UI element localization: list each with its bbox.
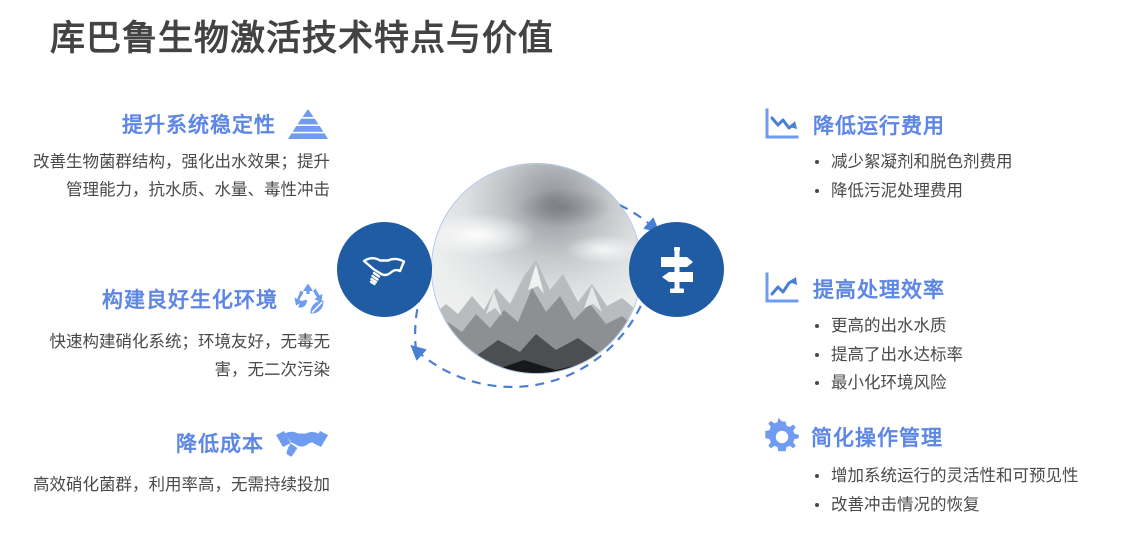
feature-title: 提升系统稳定性 xyxy=(122,109,276,139)
feature-bullet-list: 更高的出水水质 提高了出水达标率 最小化环境风险 xyxy=(763,312,1113,398)
list-item: 减少絮凝剂和脱色剂费用 xyxy=(815,148,1113,177)
pyramid-icon xyxy=(286,108,330,140)
mountain-photo xyxy=(432,164,641,373)
feature-header: 降低运行费用 xyxy=(763,108,1113,142)
handshake-icon xyxy=(274,423,330,463)
gear-icon xyxy=(763,418,801,456)
list-item: 更高的出水水质 xyxy=(815,312,1113,341)
feature-block-stability: 提升系统稳定性 改善生物菌群结构，强化出水效果；提升管理能力，抗水质、水量、毒性… xyxy=(30,108,330,203)
list-item: 最小化环境风险 xyxy=(815,369,1113,398)
feature-block-environment: 构建良好生化环境 快速构建硝化系统；环境友好，无毒无害，无二次污染 xyxy=(30,278,330,383)
recycle-leaf-icon xyxy=(288,278,330,320)
feature-title: 提高处理效率 xyxy=(813,274,945,304)
feature-header: 构建良好生化环境 xyxy=(30,278,330,320)
photo-mountain-layer xyxy=(432,164,641,373)
feature-title: 简化操作管理 xyxy=(811,422,943,452)
node-handshake xyxy=(337,222,432,317)
feature-header: 降低成本 xyxy=(30,423,330,463)
feature-header: 简化操作管理 xyxy=(763,418,1113,456)
feature-header: 提升系统稳定性 xyxy=(30,108,330,140)
handshake-icon xyxy=(360,252,410,288)
feature-body: 改善生物菌群结构，强化出水效果；提升管理能力，抗水质、水量、毒性冲击 xyxy=(30,148,330,203)
feature-body: 快速构建硝化系统；环境友好，无毒无害，无二次污染 xyxy=(30,328,330,383)
center-diagram xyxy=(333,104,753,556)
feature-block-operations: 简化操作管理 增加系统运行的灵活性和可预见性 改善冲击情况的恢复 xyxy=(763,418,1113,519)
feature-title: 降低成本 xyxy=(176,428,264,458)
feature-bullet-list: 增加系统运行的灵活性和可预见性 改善冲击情况的恢复 xyxy=(763,462,1113,519)
feature-title: 降低运行费用 xyxy=(813,110,945,140)
feature-bullet-list: 减少絮凝剂和脱色剂费用 降低污泥处理费用 xyxy=(763,148,1113,205)
feature-title: 构建良好生化环境 xyxy=(102,284,278,314)
chart-down-icon xyxy=(763,108,803,142)
feature-block-cost: 降低成本 高效硝化菌群，利用率高，无需持续投加 xyxy=(30,423,330,499)
list-item: 降低污泥处理费用 xyxy=(815,177,1113,206)
node-signpost xyxy=(629,222,724,317)
list-item: 增加系统运行的灵活性和可预见性 xyxy=(815,462,1113,491)
list-item: 提高了出水达标率 xyxy=(815,341,1113,370)
chart-up-icon xyxy=(763,272,803,306)
feature-header: 提高处理效率 xyxy=(763,272,1113,306)
feature-body: 高效硝化菌群，利用率高，无需持续投加 xyxy=(30,471,330,499)
list-item: 改善冲击情况的恢复 xyxy=(815,491,1113,520)
signpost-icon xyxy=(653,245,701,295)
feature-block-opex: 降低运行费用 减少絮凝剂和脱色剂费用 降低污泥处理费用 xyxy=(763,108,1113,205)
feature-block-efficiency: 提高处理效率 更高的出水水质 提高了出水达标率 最小化环境风险 xyxy=(763,272,1113,398)
page-title: 库巴鲁生物激活技术特点与价值 xyxy=(50,10,554,61)
